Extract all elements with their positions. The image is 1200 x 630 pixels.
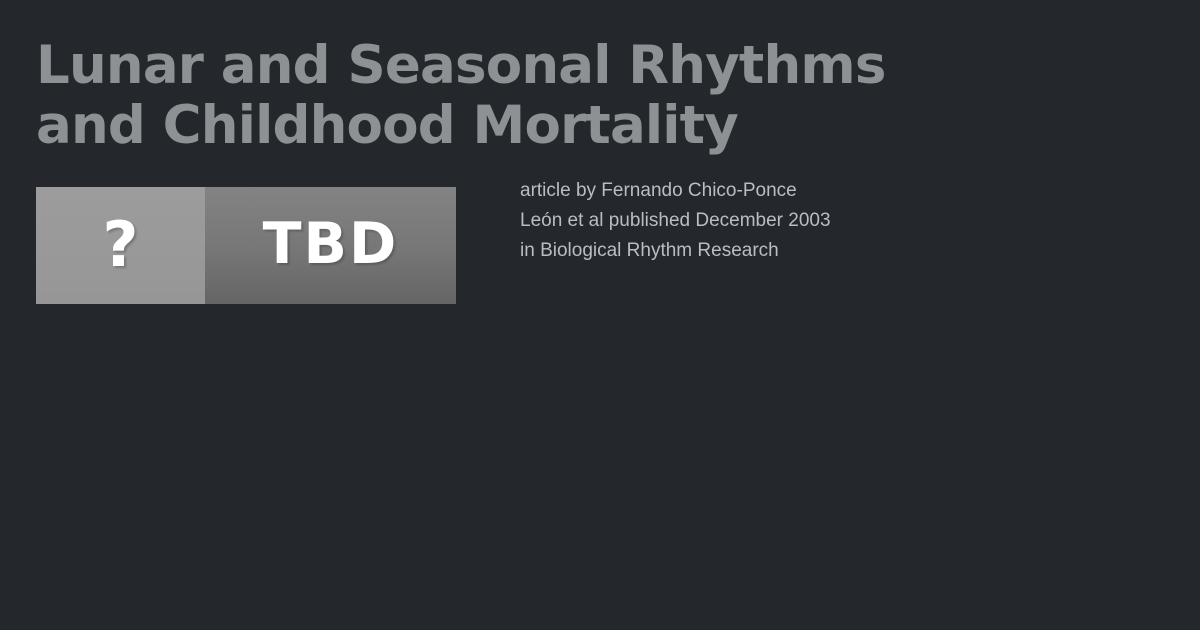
- page-title: Lunar and Seasonal Rhythms and Childhood…: [36, 36, 1066, 156]
- article-summary-row: ? TBD article by Fernando Chico-Ponce Le…: [36, 187, 1164, 304]
- tbd-placeholder-label: TBD: [263, 216, 399, 273]
- article-thumbnail-placeholder: ? TBD: [36, 187, 456, 304]
- thumbnail-left-panel: ?: [36, 187, 205, 304]
- article-byline: article by Fernando Chico-Ponce León et …: [520, 176, 831, 266]
- question-mark-icon: ?: [103, 214, 139, 276]
- social-preview-card: Lunar and Seasonal Rhythms and Childhood…: [0, 0, 1200, 630]
- thumbnail-right-panel: TBD: [205, 187, 456, 304]
